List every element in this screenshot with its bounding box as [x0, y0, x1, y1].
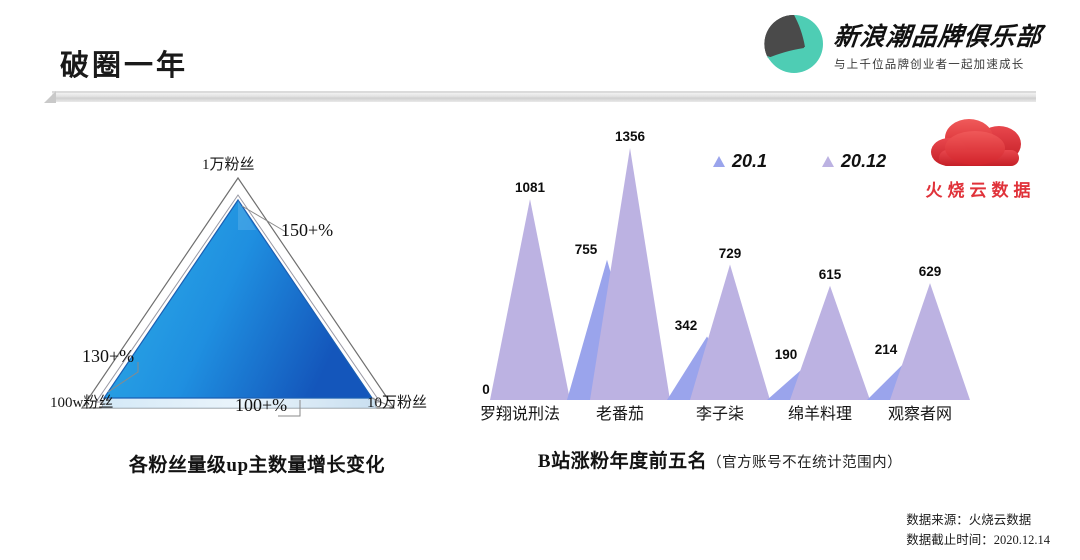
bar-value-label-20-1: 0 [482, 382, 490, 397]
brand-tagline: 与上千位品牌创业者一起加速成长 [834, 56, 1025, 72]
bar-caption-main: B站涨粉年度前五名 [538, 451, 707, 472]
bar-category-label: 老番茄 [570, 400, 670, 424]
bar-value-label-20-1: 342 [675, 318, 698, 333]
bar-caption-sub: （官方账号不在统计范围内） [707, 455, 902, 471]
bar-value-label-20-12: 729 [719, 246, 742, 261]
brand-text: 新浪潮品牌俱乐部 与上千位品牌创业者一起加速成长 [834, 17, 1042, 72]
bar-category-label: 观察者网 [870, 400, 970, 424]
bar-value-label-20-12: 1081 [515, 180, 545, 195]
footer-cutoff: 数据截止时间：2020.12.14 [906, 531, 1050, 550]
brand-logo: 新浪潮品牌俱乐部 与上千位品牌创业者一起加速成长 [764, 14, 1042, 74]
footer-source: 数据来源：火烧云数据 [906, 511, 1050, 530]
bar-chart-svg [470, 118, 970, 418]
bar-value-label-20-12: 629 [919, 264, 942, 279]
bar-value-label-20-1: 190 [775, 347, 798, 362]
title-divider [46, 90, 1036, 104]
bar-cone-series-20-12 [690, 265, 770, 400]
bar-cone-series-20-12 [790, 286, 870, 400]
page-title: 破圈一年 [60, 42, 188, 84]
bar-cone-series-20-12 [890, 283, 970, 400]
bar-chart: 20.1 20.12 01081755135634272919061521462… [470, 118, 970, 418]
bar-value-label-20-12: 615 [819, 267, 842, 282]
radar-chart-caption: 各粉丝量级up主数量增长变化 [42, 450, 472, 477]
bar-category-label: 李子柒 [670, 400, 770, 424]
bar-cone-series-20-12 [490, 199, 570, 400]
radar-value-label-top: 150+% [281, 220, 333, 241]
radar-axis-label-top: 1万粉丝 [202, 153, 255, 174]
bar-category-label: 绵羊料理 [770, 400, 870, 424]
radar-axis-label-bottom-left: 100w粉丝 [50, 391, 113, 412]
radar-value-label-bottom: 100+% [235, 395, 287, 416]
bar-value-label-20-1: 755 [575, 242, 598, 257]
radar-chart: 1万粉丝 100w粉丝 10万粉丝 150+% 130+% 100+% [42, 140, 472, 440]
circle-split-logo-icon [764, 14, 824, 74]
divider-red-bar [46, 91, 331, 103]
bar-category-label: 罗翔说刑法 [470, 400, 570, 424]
bar-value-label-20-1: 214 [875, 342, 898, 357]
bar-chart-caption: B站涨粉年度前五名（官方账号不在统计范围内） [470, 448, 970, 476]
radar-axis-label-bottom-right: 10万粉丝 [367, 391, 427, 412]
bar-value-label-20-12: 1356 [615, 129, 645, 144]
brand-name: 新浪潮品牌俱乐部 [832, 17, 1044, 53]
watermark-text: 火烧云数据 [898, 176, 1058, 201]
bar-cone-series-20-12 [590, 148, 670, 400]
cloud-icon [923, 118, 1033, 174]
watermark: 火烧云数据 [898, 118, 1058, 201]
radar-value-label-left: 130+% [82, 346, 134, 367]
slide: 破圈一年 新浪潮品牌俱乐部 与上千位品牌创业者一起加速成长 [0, 0, 1080, 560]
bar-category-axis: 罗翔说刑法老番茄李子柒绵羊料理观察者网 [470, 400, 970, 424]
footer: 数据来源：火烧云数据 数据截止时间：2020.12.14 [906, 511, 1050, 550]
